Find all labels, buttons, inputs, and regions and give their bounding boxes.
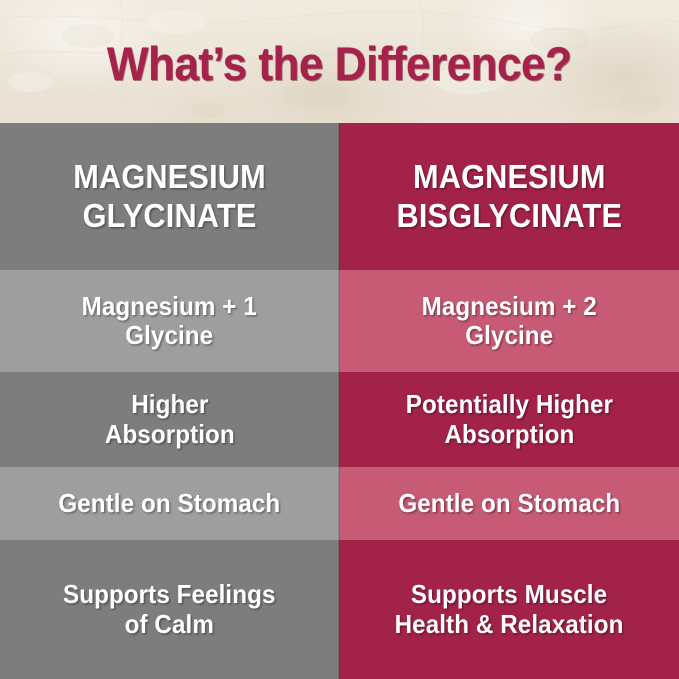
table-row: Magnesium + 1 Glycine Magnesium + 2 Glyc…	[0, 270, 679, 372]
row0-left-line1: Magnesium + 1	[82, 291, 257, 321]
cell-glycinate-benefit: Supports Feelings of Calm	[0, 540, 339, 679]
row1-left-line1: Higher	[131, 389, 208, 419]
row3-left-line1: Supports Feelings	[63, 579, 276, 609]
header-bisglycinate-line1: MAGNESIUM	[413, 158, 606, 195]
table-row: Supports Feelings of Calm Supports Muscl…	[0, 540, 679, 679]
row0-right-line2: Glycine	[465, 320, 553, 350]
header-cell-glycinate: MAGNESIUM GLYCINATE	[0, 123, 339, 270]
row2-right-line1: Gentle on Stomach	[398, 488, 620, 518]
page-title: What’s the Difference?	[107, 36, 572, 91]
row2-left-line1: Gentle on Stomach	[59, 488, 281, 518]
table-header-row: MAGNESIUM GLYCINATE MAGNESIUM BISGLYCINA…	[0, 123, 679, 270]
cell-bisglycinate-stomach: Gentle on Stomach	[339, 467, 679, 540]
row3-right-line2: Health & Relaxation	[395, 609, 624, 639]
cell-glycinate-stomach: Gentle on Stomach	[0, 467, 339, 540]
row1-left-line2: Absorption	[105, 419, 235, 449]
title-banner: What’s the Difference?	[0, 0, 679, 123]
row0-left-line2: Glycine	[125, 320, 213, 350]
header-cell-bisglycinate: MAGNESIUM BISGLYCINATE	[339, 123, 679, 270]
header-glycinate-line1: MAGNESIUM	[73, 158, 266, 195]
cell-glycinate-absorption: Higher Absorption	[0, 372, 339, 467]
table-row: Gentle on Stomach Gentle on Stomach	[0, 467, 679, 540]
row1-right-line1: Potentially Higher	[405, 389, 612, 419]
cell-bisglycinate-composition: Magnesium + 2 Glycine	[339, 270, 679, 372]
cell-glycinate-composition: Magnesium + 1 Glycine	[0, 270, 339, 372]
header-glycinate-line2: GLYCINATE	[83, 197, 257, 234]
row3-left-line2: of Calm	[125, 609, 214, 639]
header-bisglycinate-line2: BISGLYCINATE	[396, 197, 622, 234]
table-row: Higher Absorption Potentially Higher Abs…	[0, 372, 679, 467]
cell-bisglycinate-absorption: Potentially Higher Absorption	[339, 372, 679, 467]
row3-right-line1: Supports Muscle	[411, 579, 607, 609]
row1-right-line2: Absorption	[444, 419, 574, 449]
comparison-infographic: What’s the Difference? MAGNESIUM GLYCINA…	[0, 0, 679, 679]
comparison-table: MAGNESIUM GLYCINATE MAGNESIUM BISGLYCINA…	[0, 123, 679, 679]
cell-bisglycinate-benefit: Supports Muscle Health & Relaxation	[339, 540, 679, 679]
row0-right-line1: Magnesium + 2	[421, 291, 596, 321]
